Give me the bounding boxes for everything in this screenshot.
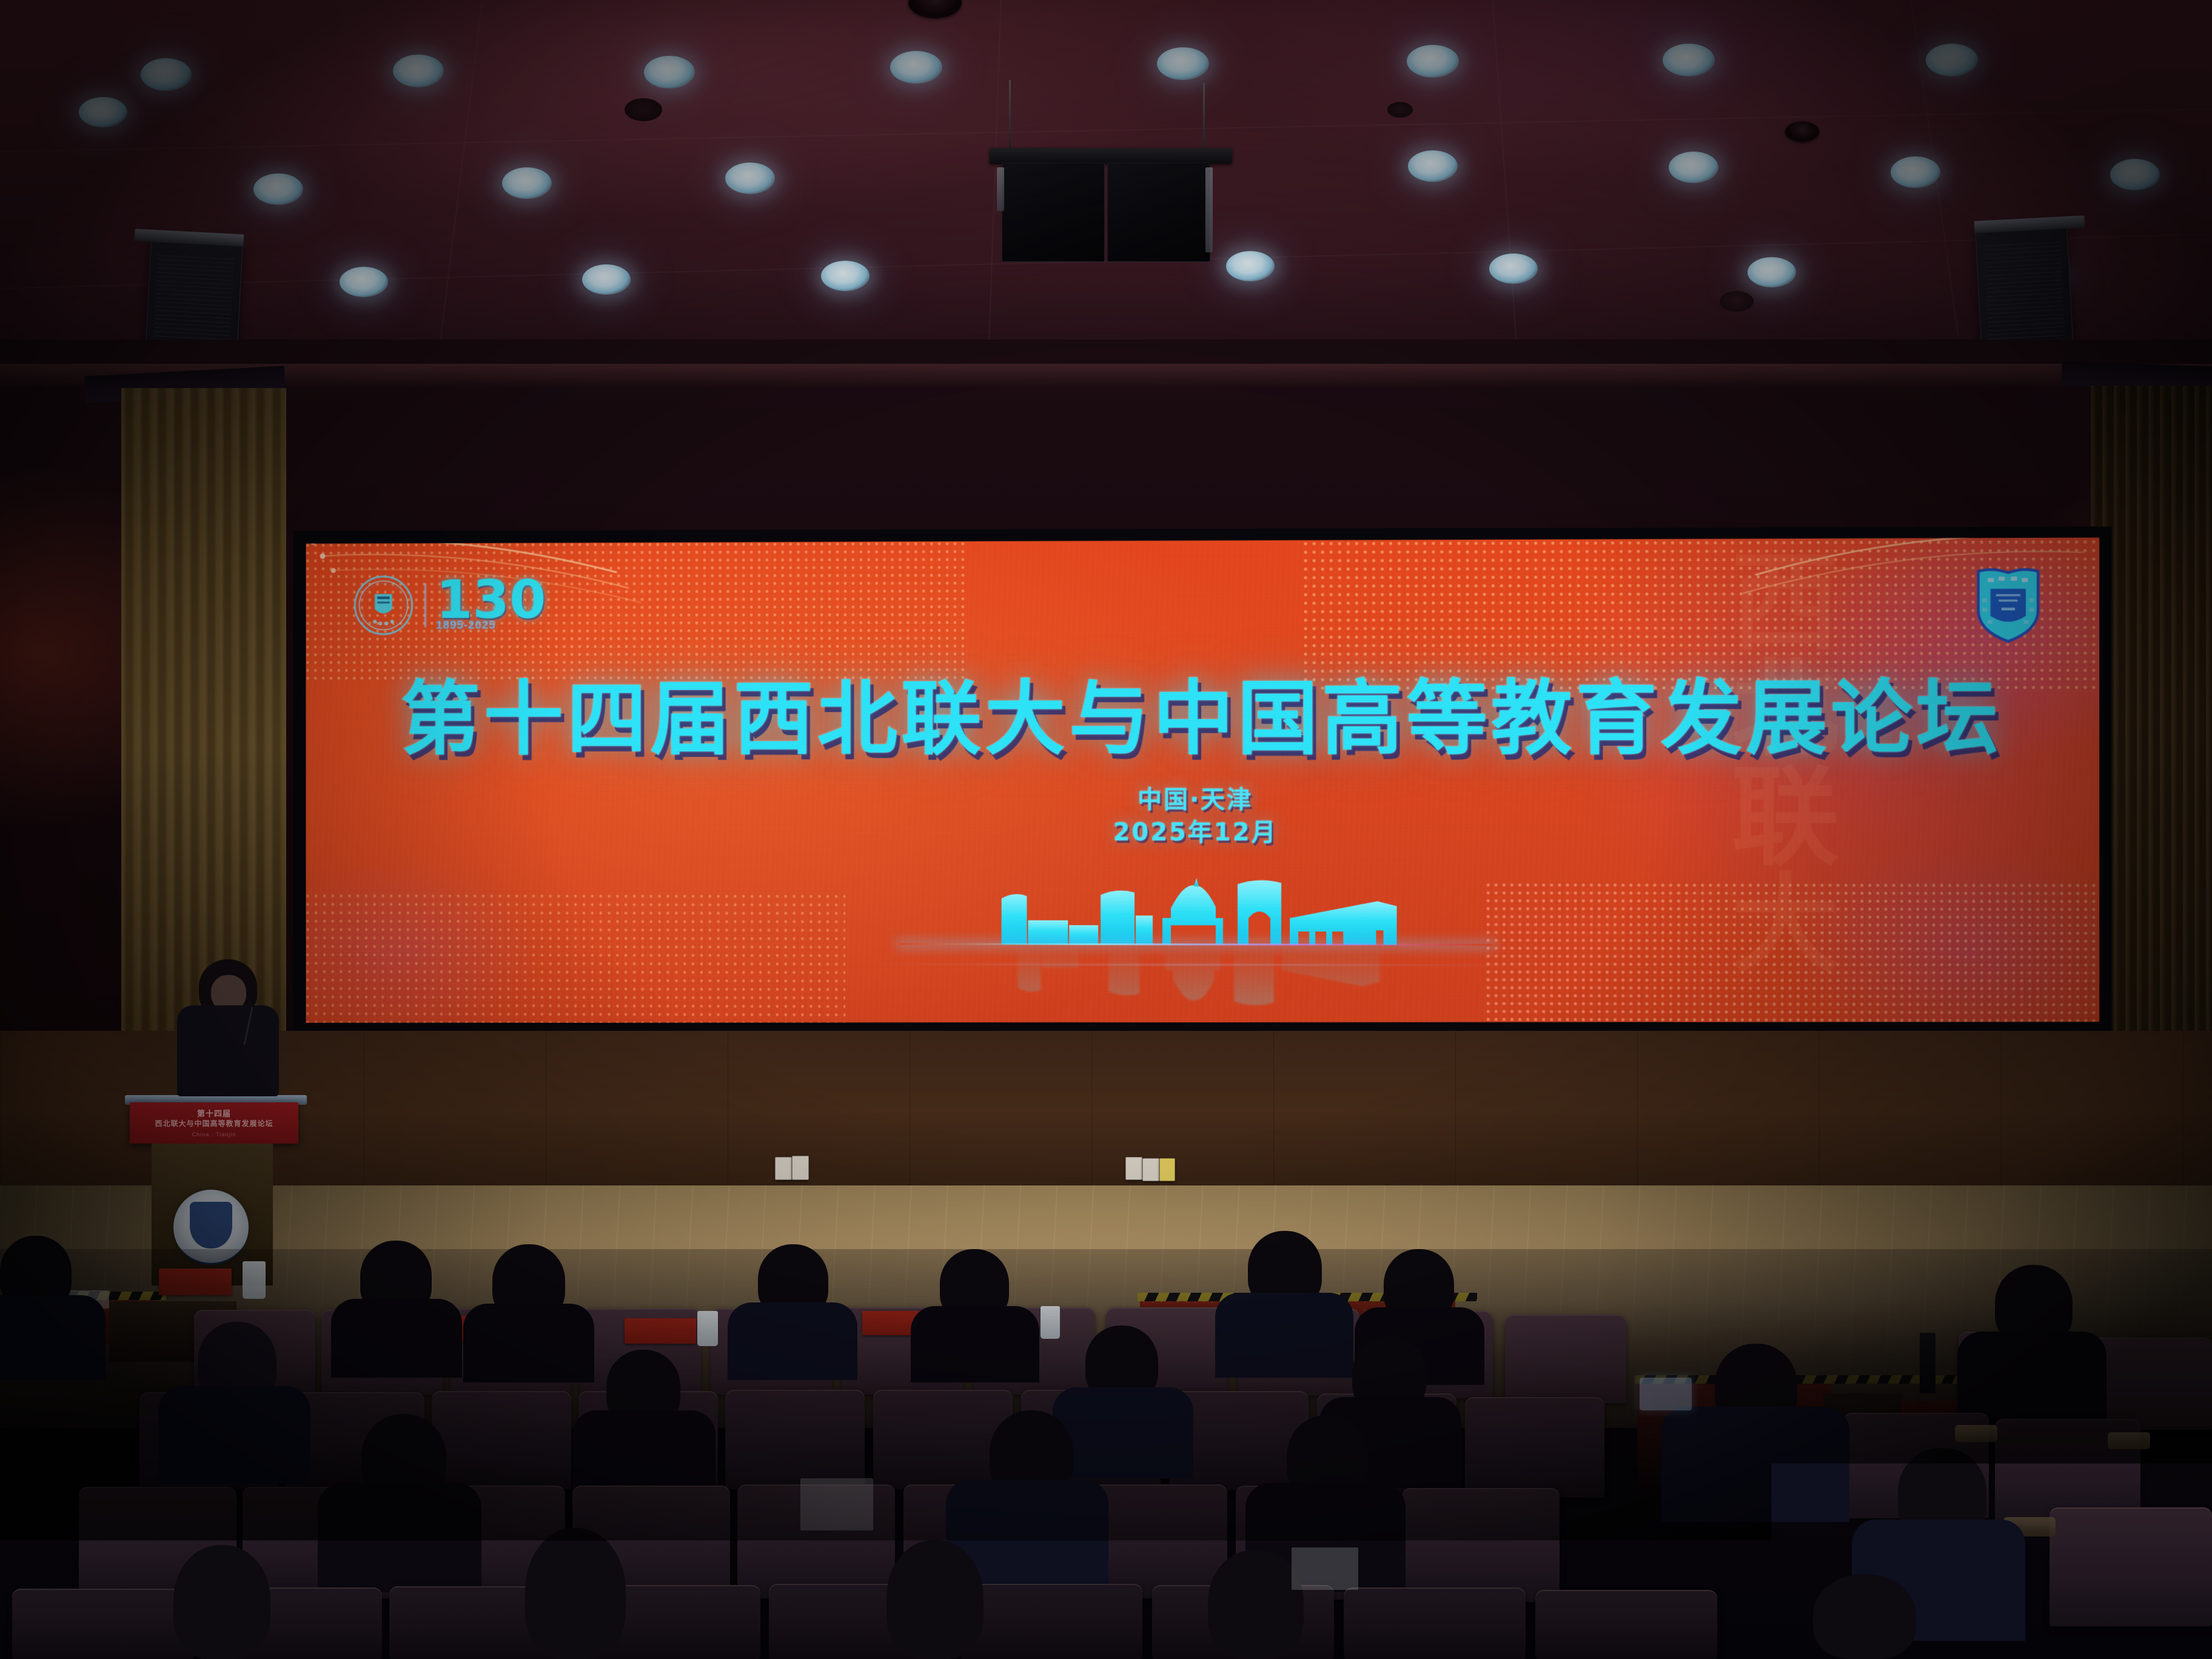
- led-screen-content: 西 北 联 大: [306, 538, 2100, 1027]
- wall-outlet: [1142, 1158, 1159, 1181]
- audience-shoulders: [0, 1295, 106, 1380]
- ceiling-downlight: [644, 56, 695, 89]
- audience-seat: [960, 1584, 1142, 1659]
- university-seal-icon: [352, 574, 414, 637]
- screen-bloom-bottom-left: [306, 819, 701, 1027]
- wall-outlet: [775, 1157, 792, 1180]
- ceiling-downlight: [1408, 150, 1458, 182]
- skyline-silhouette-icon: [984, 873, 1408, 947]
- watermark-char: 西: [1731, 551, 1840, 656]
- ceiling-downlight: [821, 261, 870, 291]
- audience-seat: [725, 1390, 865, 1489]
- wall-outlet: [1125, 1157, 1142, 1180]
- ceiling-downlight: [1926, 44, 1978, 76]
- audience-shoulders: [318, 1483, 481, 1592]
- ceiling-recess-hole: [1720, 291, 1754, 312]
- ceiling-downlight: [890, 51, 942, 84]
- ceiling-recess-hole: [1387, 102, 1413, 118]
- ceiling-downlight: [141, 58, 192, 91]
- anniversary-mark: 130 1895-2025: [436, 578, 546, 632]
- line-array-speaker-cluster: [982, 80, 1249, 268]
- shield-emblem-icon: [1974, 566, 2043, 644]
- ceiling-downlight: [340, 267, 388, 297]
- podium-text-line2: 西北联大与中国高等教育发展论坛: [130, 1118, 298, 1128]
- ceiling-downlight: [1407, 45, 1459, 78]
- ceiling-downlight: [1891, 156, 1940, 188]
- wall-outlet: [1159, 1158, 1175, 1181]
- forum-main-title: 第十四届西北联大与中国高等教育发展论坛: [306, 652, 2100, 770]
- handout-paper: [1292, 1547, 1358, 1590]
- subtitle-date: 2025年12月: [306, 816, 2100, 850]
- watermark-char: 大: [1731, 873, 1840, 979]
- audience-shoulders: [331, 1299, 462, 1378]
- delegate-name-card: [159, 1269, 232, 1295]
- podium-text-line3: China · Tianjin: [130, 1131, 298, 1138]
- audience-head: [1490, 1541, 1591, 1659]
- ceiling-downlight: [725, 163, 775, 194]
- audience-seat: [2049, 1507, 2212, 1626]
- ceiling-downlight: [79, 97, 127, 127]
- podium-text-line1: 第十四届: [130, 1107, 298, 1119]
- audience-shoulders: [1215, 1293, 1353, 1378]
- smoke-detector-icon: [1785, 121, 1819, 142]
- wall-soffit: [0, 364, 2212, 388]
- subtitle-location: 中国·天津: [306, 783, 2100, 816]
- handout-paper: [800, 1478, 873, 1530]
- audience-shoulders: [1053, 1387, 1193, 1478]
- led-video-wall: 西 北 联 大: [293, 526, 2112, 1052]
- stage-curtain-left: [121, 388, 286, 1043]
- dot-arc-decor-bottom-left: [306, 894, 845, 1027]
- audience-shoulders: [728, 1302, 857, 1380]
- dot-arc-decor-bottom-right: [1486, 883, 2099, 1027]
- audience-head: [173, 1545, 270, 1659]
- ceiling-recess-hole: [625, 98, 662, 121]
- anniversary-years: 1895-2025: [436, 619, 496, 632]
- ceiling-downlight: [502, 167, 552, 199]
- auditorium-scene: 西 北 联 大: [0, 0, 2212, 1659]
- phone-screen-glow: [1640, 1378, 1692, 1410]
- screen-title-block: 第十四届西北联大与中国高等教育发展论坛: [306, 652, 2100, 770]
- audience-shoulders: [463, 1304, 594, 1382]
- audience-seat: [432, 1391, 571, 1489]
- audience-seat: [1505, 1315, 1626, 1403]
- water-bottle: [697, 1311, 718, 1346]
- screen-subtitle-block: 中国·天津 2025年12月: [306, 783, 2100, 850]
- seat-armrest: [1955, 1425, 1997, 1442]
- audience-shoulders: [1661, 1407, 1849, 1522]
- water-bottle: [243, 1261, 266, 1299]
- tianjin-skyline-graphic: [984, 873, 1408, 989]
- water-bottle: [1041, 1306, 1060, 1339]
- audience-head: [1813, 1574, 1916, 1659]
- audience-head: [1208, 1550, 1304, 1659]
- audience-shoulders: [911, 1306, 1039, 1382]
- audience-seat: [2088, 1338, 2212, 1430]
- ceiling-downlight: [2110, 159, 2160, 190]
- ceiling-downlight: [582, 264, 631, 295]
- audience-head: [886, 1540, 984, 1659]
- skyline-reflection: [984, 944, 1408, 1011]
- ceiling-downlight: [393, 55, 444, 87]
- audience-shoulders: [1957, 1332, 2106, 1423]
- delegate-name-card: [625, 1318, 696, 1344]
- ceiling-downlight: [253, 173, 303, 205]
- screen-left-logo-group: 130 1895-2025: [352, 574, 546, 637]
- seat-armrest: [2108, 1432, 2150, 1449]
- audience-seat: [1465, 1397, 1604, 1498]
- ceiling-downlight: [1748, 257, 1796, 287]
- wall-outlet: [792, 1156, 809, 1180]
- ceiling-downlight: [1157, 47, 1209, 80]
- podium-front-banner: 第十四届 西北联大与中国高等教育发展论坛 China · Tianjin: [130, 1102, 298, 1144]
- anniversary-number: 130: [436, 578, 546, 622]
- ceiling-downlight: [1663, 44, 1715, 76]
- logo-divider: [424, 583, 426, 627]
- audience-seat: [12, 1589, 194, 1659]
- audience-head: [525, 1528, 626, 1659]
- ceiling-downlight: [1669, 152, 1718, 183]
- presenter-at-podium: [171, 959, 280, 1105]
- audience-shoulders: [159, 1386, 310, 1483]
- ceiling-downlight: [1489, 253, 1538, 284]
